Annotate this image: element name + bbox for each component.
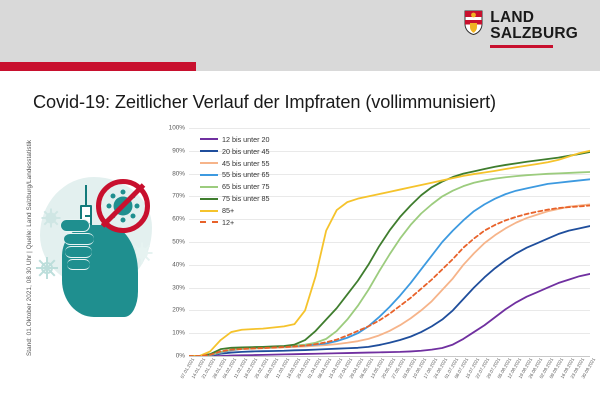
legend-item[interactable]: 55 bis unter 65 bbox=[200, 170, 270, 181]
y-tick-label: 0% bbox=[176, 353, 185, 360]
finger-2 bbox=[65, 246, 92, 258]
legend-swatch bbox=[200, 162, 218, 164]
y-axis: 100%90%80%70%60%50%40%30%20%10%0% bbox=[160, 128, 188, 356]
legend-item[interactable]: 75 bis unter 85 bbox=[200, 193, 270, 204]
legend-label: 75 bis unter 85 bbox=[222, 194, 270, 203]
finger-3 bbox=[67, 259, 90, 270]
legend-swatch bbox=[200, 138, 218, 140]
thumb bbox=[60, 219, 90, 232]
legend-item[interactable]: 20 bis unter 45 bbox=[200, 146, 270, 157]
legend-label: 55 bis unter 65 bbox=[222, 170, 270, 179]
legend-swatch bbox=[200, 174, 218, 176]
logo-line-land: LAND bbox=[490, 10, 578, 26]
logo-wordmark: LAND SALZBURG bbox=[490, 10, 578, 48]
legend-item[interactable]: 12+ bbox=[200, 217, 270, 228]
land-salzburg-logo: LAND SALZBURG bbox=[464, 10, 578, 48]
series-line bbox=[189, 226, 590, 356]
legend-swatch bbox=[200, 186, 218, 188]
y-tick-label: 70% bbox=[172, 193, 185, 200]
legend-item[interactable]: 45 bis unter 55 bbox=[200, 158, 270, 169]
finger-1 bbox=[64, 233, 94, 245]
legend-label: 20 bis unter 45 bbox=[222, 147, 270, 156]
legend-label: 12+ bbox=[222, 218, 234, 227]
gray-accent-strip bbox=[196, 62, 600, 71]
legend-swatch bbox=[200, 210, 218, 212]
x-axis: 07.01.202114.01.202121.01.202128.01.2021… bbox=[189, 357, 590, 397]
y-tick-label: 60% bbox=[172, 216, 185, 223]
virus-ghost-icon-2 bbox=[34, 255, 60, 281]
virus-ghost-icon-1 bbox=[40, 207, 62, 229]
legend-label: 65 bis unter 75 bbox=[222, 182, 270, 191]
salzburg-coat-of-arms-icon bbox=[464, 10, 483, 35]
y-tick-label: 20% bbox=[172, 307, 185, 314]
source-note: Stand: 01.Oktober 2021, 08.30 Uhr | Quel… bbox=[26, 141, 33, 356]
logo-underline bbox=[490, 45, 553, 49]
y-tick-label: 50% bbox=[172, 239, 185, 246]
no-virus-icon bbox=[96, 179, 150, 233]
legend-label: 45 bis unter 55 bbox=[222, 159, 270, 168]
y-tick-label: 100% bbox=[169, 125, 185, 132]
logo-line-salzburg: SALZBURG bbox=[490, 26, 578, 42]
vaccination-illustration bbox=[34, 163, 160, 318]
legend-item[interactable]: 12 bis unter 20 bbox=[200, 134, 270, 145]
y-tick-label: 30% bbox=[172, 284, 185, 291]
legend-item[interactable]: 65 bis unter 75 bbox=[200, 182, 270, 193]
legend-label: 85+ bbox=[222, 206, 234, 215]
legend-label: 12 bis unter 20 bbox=[222, 135, 270, 144]
red-accent-bar bbox=[0, 62, 196, 71]
y-tick-label: 40% bbox=[172, 261, 185, 268]
y-tick-label: 90% bbox=[172, 147, 185, 154]
syringe-needle bbox=[85, 185, 87, 205]
page-title: Covid-19: Zeitlicher Verlauf der Impfrat… bbox=[33, 92, 578, 113]
y-tick-label: 80% bbox=[172, 170, 185, 177]
vaccination-rate-chart: 100%90%80%70%60%50%40%30%20%10%0% 12 bis… bbox=[160, 128, 592, 396]
y-tick-label: 10% bbox=[172, 330, 185, 337]
legend-swatch bbox=[200, 221, 218, 223]
series-line bbox=[189, 206, 590, 356]
chart-legend: 12 bis unter 2020 bis unter 4545 bis unt… bbox=[200, 134, 270, 228]
legend-swatch bbox=[200, 198, 218, 200]
legend-item[interactable]: 85+ bbox=[200, 205, 270, 216]
legend-swatch bbox=[200, 150, 218, 152]
